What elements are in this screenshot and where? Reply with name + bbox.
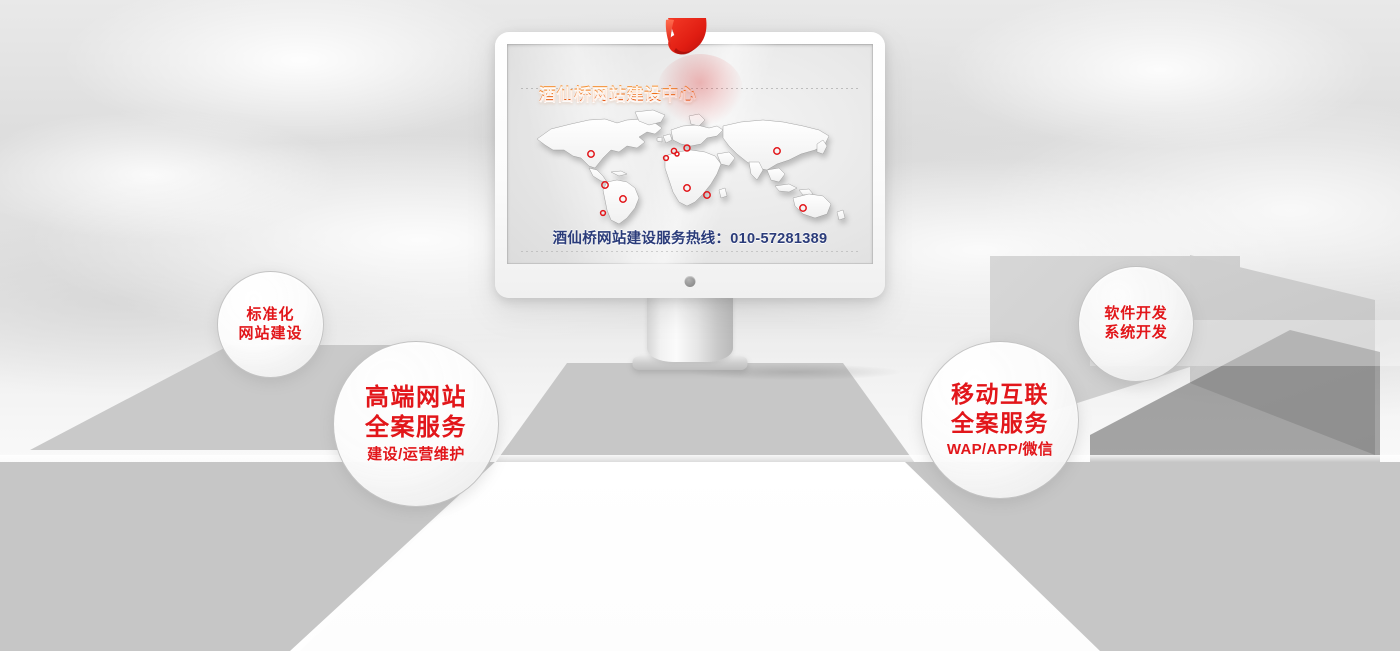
monitor-stand-neck [647,296,733,362]
banner-stage: 酒仙桥网站建设中心 酒仙桥网站建设服务热线：010-57281389 [0,0,1400,651]
bubble-3-line-1: 移动互联 [951,380,1049,409]
bubble-4-line-2: 系统开发 [1104,324,1167,343]
screen-dotted-rule-bottom [521,251,859,252]
bubble-2-subtitle: 建设/运营维护 [367,446,465,465]
power-indicator-icon [685,276,696,287]
bubble-software-development[interactable]: 软件开发 系统开发 [1078,266,1194,382]
bubble-1-line-1: 标准化 [246,306,294,325]
bubble-2-line-2: 全案服务 [365,413,467,443]
bubble-1-line-2: 网站建设 [238,325,302,344]
bubble-3-subtitle: WAP/APP/微信 [947,441,1053,460]
monitor: 酒仙桥网站建设中心 酒仙桥网站建设服务热线：010-57281389 [495,32,885,298]
bubble-standard-website[interactable]: 标准化 网站建设 [217,271,324,378]
bubble-3-line-2: 全案服务 [951,409,1049,438]
bubble-4-line-1: 软件开发 [1104,305,1167,324]
service-hotline: 酒仙桥网站建设服务热线：010-57281389 [553,227,828,248]
bubble-2-line-1: 高端网站 [365,383,467,413]
ribbon-glow [657,54,743,126]
bubble-premium-website[interactable]: 高端网站 全案服务 建设/运营维护 [333,341,499,507]
monitor-screen: 酒仙桥网站建设中心 酒仙桥网站建设服务热线：010-57281389 [507,44,873,264]
bubble-mobile-internet[interactable]: 移动互联 全案服务 WAP/APP/微信 [921,341,1079,499]
